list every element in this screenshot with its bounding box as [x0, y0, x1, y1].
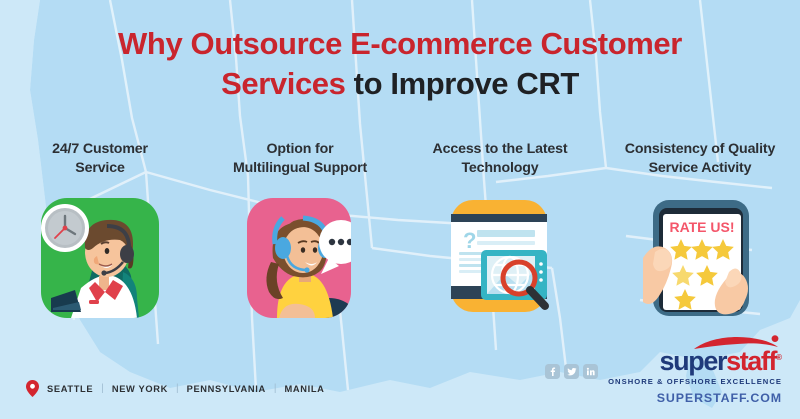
location-new-york: NEW YORK	[112, 384, 168, 394]
illustration-row: ?	[0, 196, 800, 320]
title-line-2-dark-text: to Improve CRT	[345, 66, 578, 101]
location-separator-2: |	[176, 383, 179, 394]
title-line-2-red-text: Services	[221, 66, 345, 101]
illustration-cell-4: RATE US!	[600, 196, 800, 320]
title-line-1-text: Why Outsource E-commerce Customer	[118, 26, 682, 61]
column-heading-3: Access to the Latest Technology	[400, 140, 600, 178]
column-heading-3-line1: Access to the Latest	[406, 140, 594, 159]
logo-tagline: ONSHORE & OFFSHORE EXCELLENCE	[608, 377, 782, 386]
title-line-1: Why Outsource E-commerce Customer	[0, 24, 800, 64]
logo-part-staff: staff	[726, 346, 776, 376]
twitter-icon[interactable]	[564, 364, 579, 379]
illustration-cell-2	[200, 196, 400, 320]
brand-block: superstaff® ONSHORE & OFFSHORE EXCELLENC…	[545, 344, 782, 405]
page-title: Why Outsource E-commerce Customer Servic…	[0, 24, 800, 104]
facebook-icon[interactable]	[545, 364, 560, 379]
location-separator-1: |	[101, 383, 104, 394]
column-heading-1: 24/7 Customer Service	[0, 140, 200, 178]
location-manila: MANILA	[284, 384, 324, 394]
column-heading-4-line1: Consistency of Quality	[606, 140, 794, 159]
infographic-canvas: Why Outsource E-commerce Customer Servic…	[0, 0, 800, 419]
location-pennsylvania: PENNSYLVANIA	[187, 384, 266, 394]
browser-window-with-globe-and-magnifier-illustration: ?	[437, 196, 563, 320]
superstaff-logo: superstaff® ONSHORE & OFFSHORE EXCELLENC…	[608, 344, 782, 386]
location-separator-3: |	[274, 383, 277, 394]
svg-text:?: ?	[463, 228, 476, 253]
logo-registered-mark: ®	[776, 353, 782, 362]
location-seattle: SEATTLE	[47, 384, 93, 394]
column-heading-1-line2: Service	[6, 159, 194, 178]
website-url[interactable]: SUPERSTAFF.COM	[545, 391, 782, 405]
column-headings-row: 24/7 Customer Service Option for Multili…	[0, 140, 800, 178]
column-heading-2-line2: Multilingual Support	[206, 159, 394, 178]
illustration-cell-3: ?	[400, 196, 600, 320]
logo-part-super: super	[660, 346, 727, 376]
column-heading-4-line2: Service Activity	[606, 159, 794, 178]
illustration-cell-1	[0, 196, 200, 320]
rate-us-text: RATE US!	[669, 219, 734, 235]
column-heading-2-line1: Option for	[206, 140, 394, 159]
hand-holding-tablet-rate-us-illustration: RATE US!	[637, 196, 763, 320]
logo-wordmark: superstaff®	[608, 344, 782, 375]
agent-with-headset-and-clock-illustration	[37, 196, 163, 320]
column-heading-2: Option for Multilingual Support	[200, 140, 400, 178]
footer: SEATTLE | NEW YORK | PENNSYLVANIA | MANI…	[0, 349, 800, 419]
social-links	[545, 364, 598, 379]
title-line-2: Services to Improve CRT	[0, 64, 800, 104]
locations-bar: SEATTLE | NEW YORK | PENNSYLVANIA | MANI…	[26, 380, 325, 397]
linkedin-icon[interactable]	[583, 364, 598, 379]
column-heading-4: Consistency of Quality Service Activity	[600, 140, 800, 178]
column-heading-3-line2: Technology	[406, 159, 594, 178]
female-agent-with-speech-bubble-illustration	[237, 196, 363, 320]
map-pin-icon	[26, 380, 39, 397]
column-heading-1-line1: 24/7 Customer	[6, 140, 194, 159]
